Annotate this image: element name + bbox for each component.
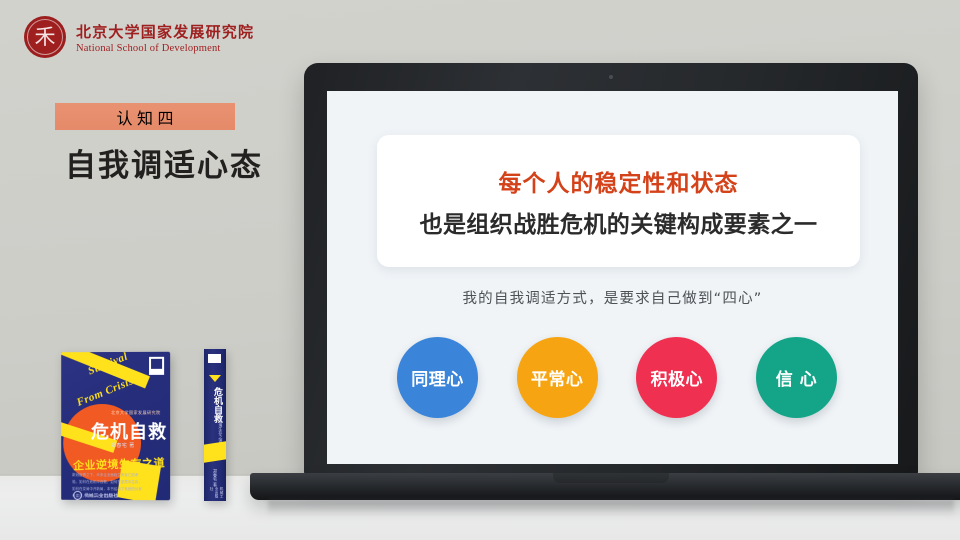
publisher-logo-icon — [149, 357, 164, 375]
book-title: 危机自救 — [91, 418, 167, 444]
laptop-base — [250, 473, 960, 500]
circle-label: 同理心 — [411, 365, 464, 390]
slide-subtitle: 我的自我调适方式，是要求自己做到“四心” — [327, 287, 898, 308]
publisher-mark-icon — [208, 354, 221, 363]
circle-label: 积极心 — [651, 365, 704, 390]
book-spine-publisher: 机械工业出版社 — [210, 487, 225, 501]
laptop-reflection — [268, 500, 954, 516]
circle-label: 信 心 — [776, 365, 817, 390]
circle-item-xinxin: 信 心 — [756, 337, 837, 418]
laptop-screen: 每个人的稳定性和状态 也是组织战胜危机的关键构成要素之一 我的自我调适方式，是要… — [327, 91, 898, 464]
spine-yellow-shape — [204, 441, 226, 463]
brand-name-en: National School of Development — [76, 43, 254, 54]
brand-name-cn: 北京大学国家发展研究院 — [76, 21, 254, 42]
peking-university-seal-icon: 禾 — [24, 16, 66, 58]
circle-label: 平常心 — [531, 365, 584, 390]
brand-logo: 禾 北京大学国家发展研究院 National School of Develop… — [24, 16, 254, 58]
laptop-lid: 每个人的稳定性和状态 也是组织战胜危机的关键构成要素之一 我的自我调适方式，是要… — [304, 63, 918, 475]
cover-tag: 北京大学国家发展研究院 — [111, 410, 161, 416]
circle-item-tongli: 同理心 — [397, 337, 478, 418]
slide-photo-scene: 禾 北京大学国家发展研究院 National School of Develop… — [0, 0, 960, 540]
cover-publisher: 机械工业出版社 — [73, 491, 118, 500]
four-hearts-group: 同理心 平常心 积极心 信 心 — [397, 331, 837, 423]
slide-title-card: 每个人的稳定性和状态 也是组织战胜危机的关键构成要素之一 — [377, 135, 860, 267]
book-subtitle: 企业逆境生存之道 — [73, 454, 165, 473]
page-title: 自我调适心态 — [44, 140, 284, 185]
book-cover: Survival From Crisis 北京大学国家发展研究院 危机自救 郑春… — [61, 352, 170, 500]
book-spine-author: 郑春宅 著 — [212, 469, 218, 486]
circle-item-pingchang: 平常心 — [517, 337, 598, 418]
spine-triangle-icon — [209, 375, 221, 382]
section-badge-label: 认 知 四 — [117, 105, 174, 129]
brand-name-block: 北京大学国家发展研究院 National School of Developme… — [76, 21, 254, 54]
section-badge: 认 知 四 — [55, 103, 235, 130]
book-spine: 危机自救 企业逆境生存之道 郑春宅 著 机械工业出版社 — [204, 349, 226, 501]
slide-title-line-1: 每个人的稳定性和状态 — [499, 164, 739, 198]
circle-item-jiji: 积极心 — [636, 337, 717, 418]
seal-glyph-icon: 禾 — [24, 16, 66, 58]
webcam-dot-icon — [609, 75, 613, 79]
slide-title-line-2: 也是组织战胜危机的关键构成要素之一 — [420, 205, 818, 239]
book-author: 郑春宅 著 — [111, 442, 135, 449]
book-spine-subtitle: 企业逆境生存之道 — [218, 411, 222, 443]
laptop-base-notch — [553, 473, 669, 483]
